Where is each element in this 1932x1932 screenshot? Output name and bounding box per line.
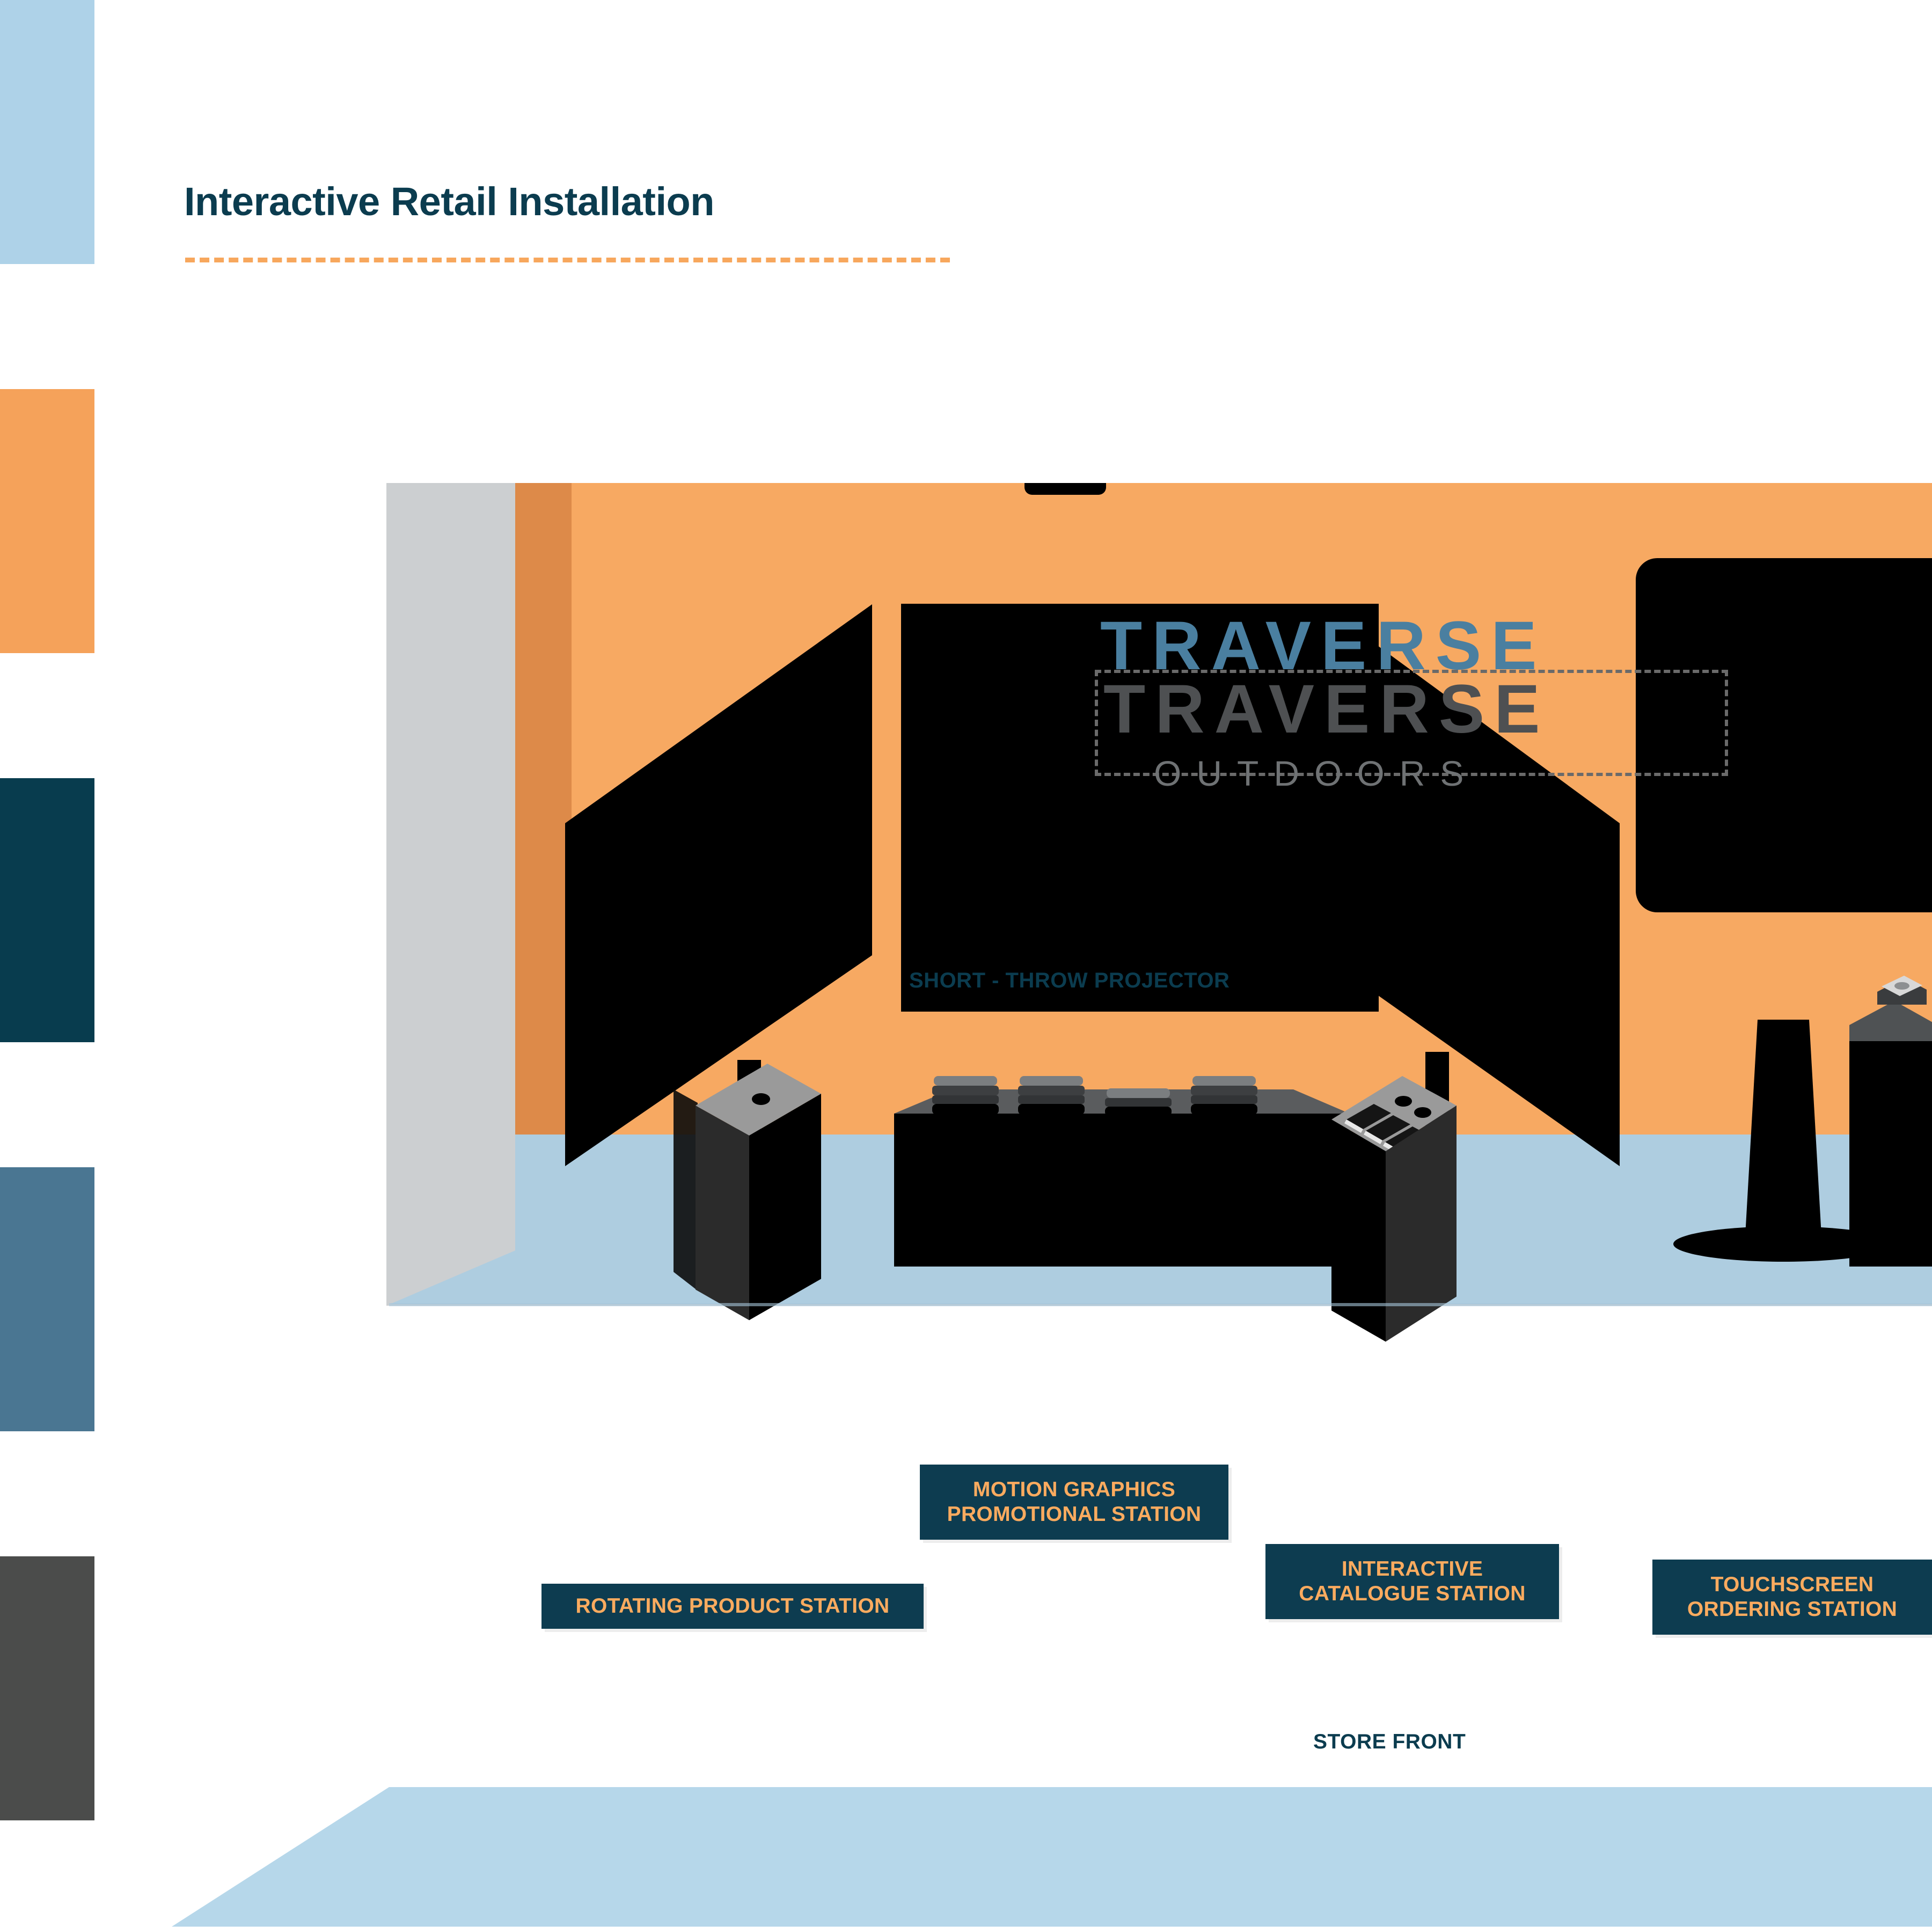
product-stack-3	[1105, 1088, 1172, 1116]
payment-terminal-stand	[1849, 976, 1932, 1267]
product-stack-2	[1018, 1076, 1085, 1115]
brand-swatch-light-blue	[0, 0, 94, 264]
callout-line: ORDERING STATION	[1687, 1597, 1897, 1622]
callout-line: INTERACTIVE	[1342, 1557, 1483, 1582]
facade-left-edge	[386, 483, 515, 1306]
product-stack-4	[1191, 1076, 1257, 1115]
projector-label: SHORT - THROW PROJECTOR	[909, 969, 1230, 993]
interactive-catalogue-station	[1331, 1076, 1457, 1342]
callout-line: TOUCHSCREEN	[1711, 1572, 1874, 1597]
kiosk-left-face	[1331, 1119, 1386, 1342]
product-stack-1	[932, 1076, 999, 1115]
short-throw-projector	[1024, 483, 1106, 495]
storefront-label: STORE FRONT	[1313, 1730, 1466, 1754]
traverse-outdoors-logo: TRAVERSE TRAVERSE OUTDOORS	[1095, 612, 1733, 789]
pedestal-spindle-hole	[752, 1093, 770, 1105]
floor-edge-line	[389, 1303, 1932, 1306]
rotating-product-station	[674, 1064, 821, 1320]
logo-sub-word: OUTDOORS	[1154, 756, 1479, 791]
callout-line: MOTION GRAPHICS	[973, 1477, 1175, 1502]
rotating-station-shadow	[674, 1089, 698, 1291]
table-body	[894, 1114, 1350, 1267]
callout-line: CATALOGUE STATION	[1299, 1582, 1526, 1606]
callout-line: PROMOTIONAL STATION	[947, 1502, 1202, 1527]
page-title: Interactive Retail Installation	[184, 179, 714, 224]
callout-line: ROTATING PRODUCT STATION	[576, 1594, 890, 1619]
pedestal-left-face	[696, 1106, 749, 1320]
title-underline-dashed	[185, 258, 950, 262]
callout-motion-graphics-promotional-station[interactable]: MOTION GRAPHICS PROMOTIONAL STATION	[920, 1465, 1228, 1540]
motion-graphics-promotional-station	[894, 1076, 1350, 1267]
callout-touchscreen-ordering-station[interactable]: TOUCHSCREEN ORDERING STATION	[1652, 1560, 1932, 1635]
floor-front-apron	[172, 1787, 1932, 1927]
touchscreen-stem	[1745, 1020, 1822, 1245]
callout-rotating-product-station[interactable]: ROTATING PRODUCT STATION	[541, 1584, 924, 1629]
logo-main-word: TRAVERSE	[1103, 675, 1550, 744]
callout-interactive-catalogue-station[interactable]: INTERACTIVE CATALOGUE STATION	[1265, 1544, 1559, 1619]
